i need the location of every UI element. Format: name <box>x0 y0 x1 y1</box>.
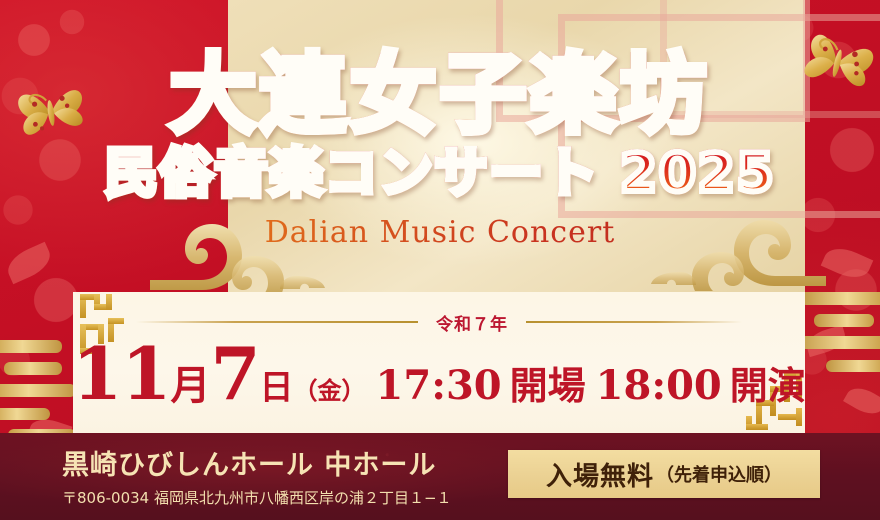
title-english: Dalian Music Concert <box>0 215 880 250</box>
weekday: （金） <box>294 379 366 403</box>
admission-main: 入場無料 <box>546 456 654 493</box>
era-divider-right <box>526 321 742 323</box>
venue-block: 黒崎ひびしんホール 中ホール 〒806-0034 福岡県北九州市八幡西区岸の浦２… <box>62 443 532 508</box>
era-divider-left <box>136 321 418 323</box>
venue-address: 〒806-0034 福岡県北九州市八幡西区岸の浦２丁目１−１ <box>62 487 532 508</box>
start-time: 18:00 <box>596 366 722 406</box>
event-datetime: 11 月 7 日 （金） 17:30 開場 18:00 開演 <box>73 338 805 424</box>
start-label: 開演 <box>730 367 806 405</box>
month-number: 11 <box>72 338 170 410</box>
open-time: 17:30 <box>376 366 502 406</box>
admission-badge: 入場無料 （先着申込順） <box>508 450 820 498</box>
title-block: 大連女子楽坊 民俗音楽コンサート 2025 Dalian Music Conce… <box>0 0 880 250</box>
day-number: 7 <box>210 338 259 410</box>
admission-note: （先着申込順） <box>656 461 782 487</box>
concert-poster: 大連女子楽坊 民俗音楽コンサート 2025 Dalian Music Conce… <box>0 0 880 520</box>
month-unit: 月 <box>170 366 210 406</box>
title-main: 大連女子楽坊 <box>0 52 880 140</box>
title-sub: 民俗音楽コンサート 2025 <box>0 146 880 202</box>
era-label: 令和７年 <box>436 310 508 335</box>
open-label: 開場 <box>510 367 586 405</box>
era-row: 令和７年 <box>73 305 805 339</box>
day-unit: 日 <box>260 371 294 405</box>
venue-name: 黒崎ひびしんホール 中ホール <box>62 443 532 482</box>
